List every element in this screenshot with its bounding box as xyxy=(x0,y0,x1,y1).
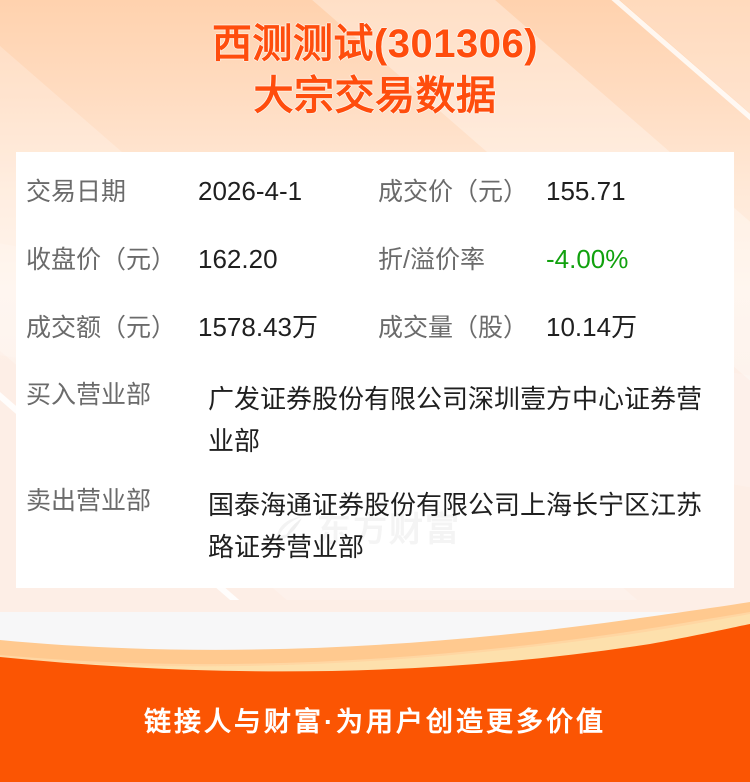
field-value: 2026-4-1 xyxy=(198,174,302,208)
field-label: 收盘价（元） xyxy=(26,243,198,277)
field-discount-premium-rate: 折/溢价率 -4.00% xyxy=(378,242,734,277)
title-line-stock: 西测测试(301306) xyxy=(0,18,750,70)
field-label: 卖出营业部 xyxy=(16,484,208,518)
field-deal-price: 成交价（元） 155.71 xyxy=(378,174,734,209)
table-row: 收盘价（元） 162.20 折/溢价率 -4.00% xyxy=(16,230,734,298)
field-label: 成交量（股） xyxy=(378,311,546,345)
data-rows: 交易日期 2026-4-1 成交价（元） 155.71 收盘价（元） 162.2… xyxy=(16,152,734,578)
field-value: 1578.43万 xyxy=(198,310,318,344)
field-label: 折/溢价率 xyxy=(378,243,546,277)
field-label: 成交价（元） xyxy=(378,175,546,209)
field-value: 广发证券股份有限公司深圳壹方中心证券营业部 xyxy=(208,378,713,462)
field-close-price: 收盘价（元） 162.20 xyxy=(16,242,378,277)
table-row: 成交额（元） 1578.43万 成交量（股） 10.14万 xyxy=(16,298,734,366)
field-value: 162.20 xyxy=(198,242,278,276)
page-title: 西测测试(301306) 大宗交易数据 xyxy=(0,18,750,122)
field-trade-date: 交易日期 2026-4-1 xyxy=(16,174,378,209)
field-sell-branch: 卖出营业部 国泰海通证券股份有限公司上海长宁区江苏路证券营业部 xyxy=(16,472,734,578)
poster-root: 西测测试(301306) 大宗交易数据 东方财富 交易日期 2026-4-1 xyxy=(0,0,750,782)
field-value: 国泰海通证券股份有限公司上海长宁区江苏路证券营业部 xyxy=(208,484,713,568)
title-line-subject: 大宗交易数据 xyxy=(0,70,750,122)
field-label: 买入营业部 xyxy=(16,378,208,412)
field-turnover-volume: 成交量（股） 10.14万 xyxy=(378,310,734,345)
footer-background xyxy=(0,600,750,782)
table-row: 交易日期 2026-4-1 成交价（元） 155.71 xyxy=(16,162,734,230)
field-turnover-amount: 成交额（元） 1578.43万 xyxy=(16,310,378,345)
data-card: 东方财富 交易日期 2026-4-1 成交价（元） 155.71 收盘价（元） … xyxy=(16,152,734,588)
field-value: 155.71 xyxy=(546,174,626,208)
field-value: 10.14万 xyxy=(546,310,637,344)
footer-slogan: 链接人与财富·为用户创造更多价值 xyxy=(0,700,750,739)
footer-wave-decoration xyxy=(0,600,750,782)
field-buy-branch: 买入营业部 广发证券股份有限公司深圳壹方中心证券营业部 xyxy=(16,366,734,472)
field-label: 成交额（元） xyxy=(26,311,198,345)
field-value: -4.00% xyxy=(546,242,628,276)
field-label: 交易日期 xyxy=(26,175,198,209)
